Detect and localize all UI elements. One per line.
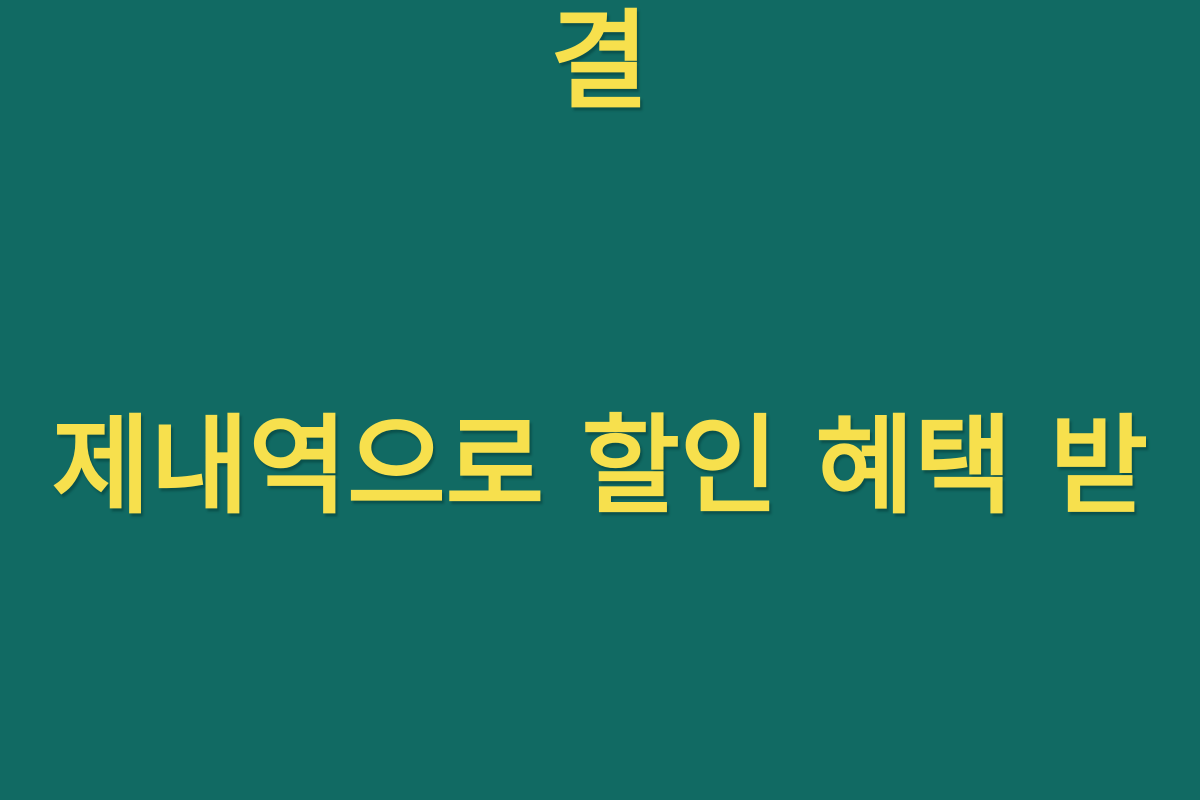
page-title: 갤럭시아 ars 코페이 결 제내역으로 할인 혜택 받 는 방법 공개 (50, 0, 1150, 800)
title-line-2: 제내역으로 할인 혜택 받 (50, 400, 1150, 535)
title-line-1: 갤럭시아 ars 코페이 결 (50, 0, 1150, 130)
title-card: 갤럭시아 ars 코페이 결 제내역으로 할인 혜택 받 는 방법 공개 (0, 0, 1200, 800)
